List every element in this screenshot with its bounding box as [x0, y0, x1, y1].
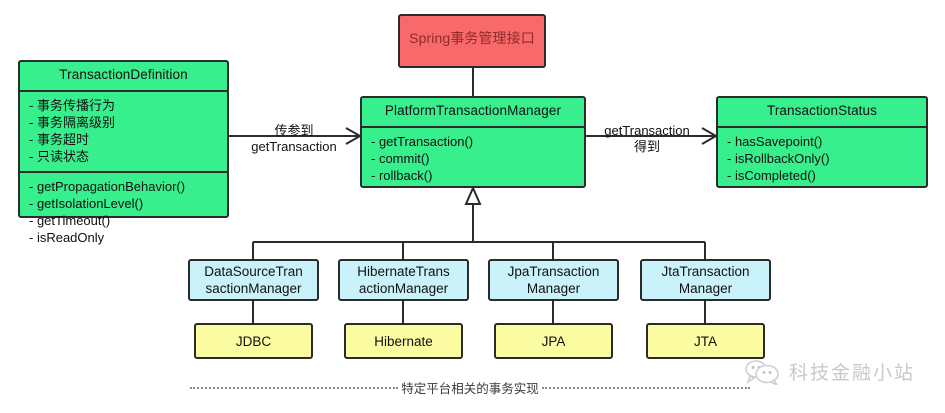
technology-jdbc: JDBC: [194, 323, 313, 359]
manager-label-line2: Manager: [661, 280, 749, 297]
manager-label-line1: JtaTransaction: [661, 263, 749, 280]
class-jta-transaction-manager: JtaTransaction Manager: [640, 259, 771, 301]
manager-label-line1: DataSourceTran: [204, 263, 303, 280]
class-datasource-transaction-manager: DataSourceTran sactionManager: [188, 259, 319, 301]
class-name-transaction-definition: TransactionDefinition: [20, 62, 227, 90]
class-platform-transaction-manager: PlatformTransactionManager - getTransact…: [360, 96, 586, 188]
class-jpa-transaction-manager: JpaTransaction Manager: [488, 259, 619, 301]
arrowhead-center-to-right: [702, 128, 716, 144]
attribute-row: - 只读状态: [29, 148, 227, 165]
method-row: - getPropagationBehavior(): [29, 178, 227, 195]
edge-label-line1: getTransaction: [592, 123, 702, 139]
uml-diagram-canvas: Spring事务管理接口 TransactionDefinition - 事务传…: [0, 0, 945, 413]
wechat-bubbles-icon: [742, 359, 782, 385]
footer-caption: 特定平台相关的事务实现: [190, 378, 750, 397]
technology-jta: JTA: [646, 323, 765, 359]
caption-dots-left: [190, 387, 398, 389]
arrowhead-generalization: [466, 188, 480, 204]
method-row: - getIsolationLevel(): [29, 195, 227, 212]
attribute-row: - 事务隔离级别: [29, 114, 227, 131]
watermark: 科技金融小站: [742, 358, 915, 385]
technology-label: JPA: [542, 333, 566, 350]
manager-label-line2: actionManager: [357, 280, 450, 297]
manager-label: JtaTransaction Manager: [661, 263, 749, 297]
method-row: - isCompleted(): [727, 167, 926, 184]
technology-jpa: JPA: [494, 323, 613, 359]
class-name-platform-transaction-manager: PlatformTransactionManager: [362, 98, 584, 126]
technology-label: Hibernate: [374, 333, 433, 350]
edge-label-line1: 传参到: [236, 123, 352, 139]
class-hibernate-transaction-manager: HibernateTrans actionManager: [338, 259, 469, 301]
edge-label-line2: getTransaction: [236, 139, 352, 155]
edge-label-left-to-center: 传参到 getTransaction: [236, 123, 352, 155]
edge-label-center-to-right: getTransaction 得到: [592, 123, 702, 155]
caption-dots-right: [542, 387, 750, 389]
class-name-transaction-status: TransactionStatus: [718, 98, 926, 126]
class-transaction-definition: TransactionDefinition - 事务传播行为 - 事务隔离级别 …: [18, 60, 229, 218]
attributes-compartment: - 事务传播行为 - 事务隔离级别 - 事务超时 - 只读状态: [20, 90, 227, 171]
method-row: - commit(): [371, 150, 584, 167]
methods-compartment: - getPropagationBehavior() - getIsolatio…: [20, 171, 227, 252]
manager-label-line1: JpaTransaction: [508, 263, 600, 280]
attribute-row: - 事务超时: [29, 131, 227, 148]
edge-label-line2: 得到: [592, 139, 702, 155]
methods-compartment: - getTransaction() - commit() - rollback…: [362, 126, 584, 190]
technology-label: JTA: [694, 333, 717, 350]
manager-label: HibernateTrans actionManager: [357, 263, 450, 297]
watermark-text: 科技金融小站: [789, 358, 915, 385]
manager-label: JpaTransaction Manager: [508, 263, 600, 297]
class-transaction-status: TransactionStatus - hasSavepoint() - isR…: [716, 96, 928, 188]
method-row: - isRollbackOnly(): [727, 150, 926, 167]
technology-hibernate: Hibernate: [344, 323, 463, 359]
manager-label-line1: HibernateTrans: [357, 263, 450, 280]
spring-transaction-interface-box: Spring事务管理接口: [398, 14, 546, 68]
footer-caption-text: 特定平台相关的事务实现: [398, 378, 542, 397]
method-row: - rollback(): [371, 167, 584, 184]
manager-label-line2: Manager: [508, 280, 600, 297]
methods-compartment: - hasSavepoint() - isRollbackOnly() - is…: [718, 126, 926, 190]
manager-label: DataSourceTran sactionManager: [204, 263, 303, 297]
technology-label: JDBC: [236, 333, 271, 350]
method-row: - getTimeout(): [29, 212, 227, 229]
method-row: - hasSavepoint(): [727, 133, 926, 150]
method-row: - getTransaction(): [371, 133, 584, 150]
attribute-row: - 事务传播行为: [29, 97, 227, 114]
spring-transaction-interface-label: Spring事务管理接口: [400, 16, 544, 54]
manager-label-line2: sactionManager: [204, 280, 303, 297]
method-row: - isReadOnly: [29, 229, 227, 246]
